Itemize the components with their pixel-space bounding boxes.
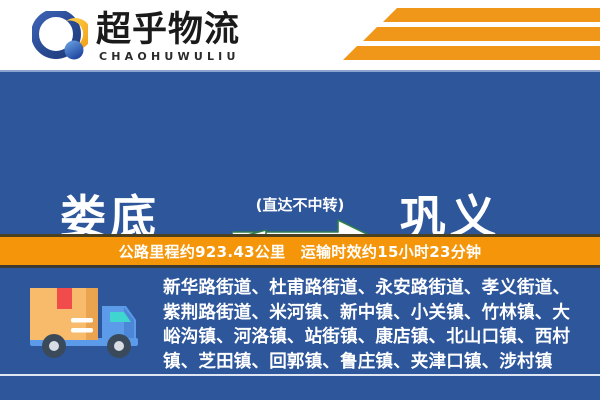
coverage-section: 新华路街道、杜甫路街道、永安路街道、孝义街道、紫荆路街道、米河镇、新中镇、小关镇… [0,268,600,400]
distance-duration-bar: 公路里程约923.43公里 运输时效约15小时23分钟 [0,237,600,265]
direct-route-note: (直达不中转) [0,194,600,215]
logistics-route-banner: 超乎物流 CHAOHUWULIU 娄底 巩义 (直达不中转) 【往返运输】 公路… [0,0,600,400]
stripe-1 [397,8,600,22]
delivery-truck-icon [24,280,146,366]
header: 超乎物流 CHAOHUWULIU [0,0,600,72]
circle-crescent-logo-icon [32,11,88,63]
decorative-stripes [340,8,600,66]
brand-name-en: CHAOHUWULIU [99,50,240,63]
footer-divider [0,374,600,376]
stripe-2 [377,27,600,41]
distance-duration-text: 公路里程约923.43公里 运输时效约15小时23分钟 [119,241,482,262]
brand-name-cn: 超乎物流 [96,10,240,50]
route-section: 娄底 巩义 (直达不中转) 【往返运输】 [0,72,600,230]
coverage-areas-text: 新华路街道、杜甫路街道、永安路街道、孝义街道、紫荆路街道、米河镇、新中镇、小关镇… [163,276,587,374]
stripe-3 [357,46,600,60]
